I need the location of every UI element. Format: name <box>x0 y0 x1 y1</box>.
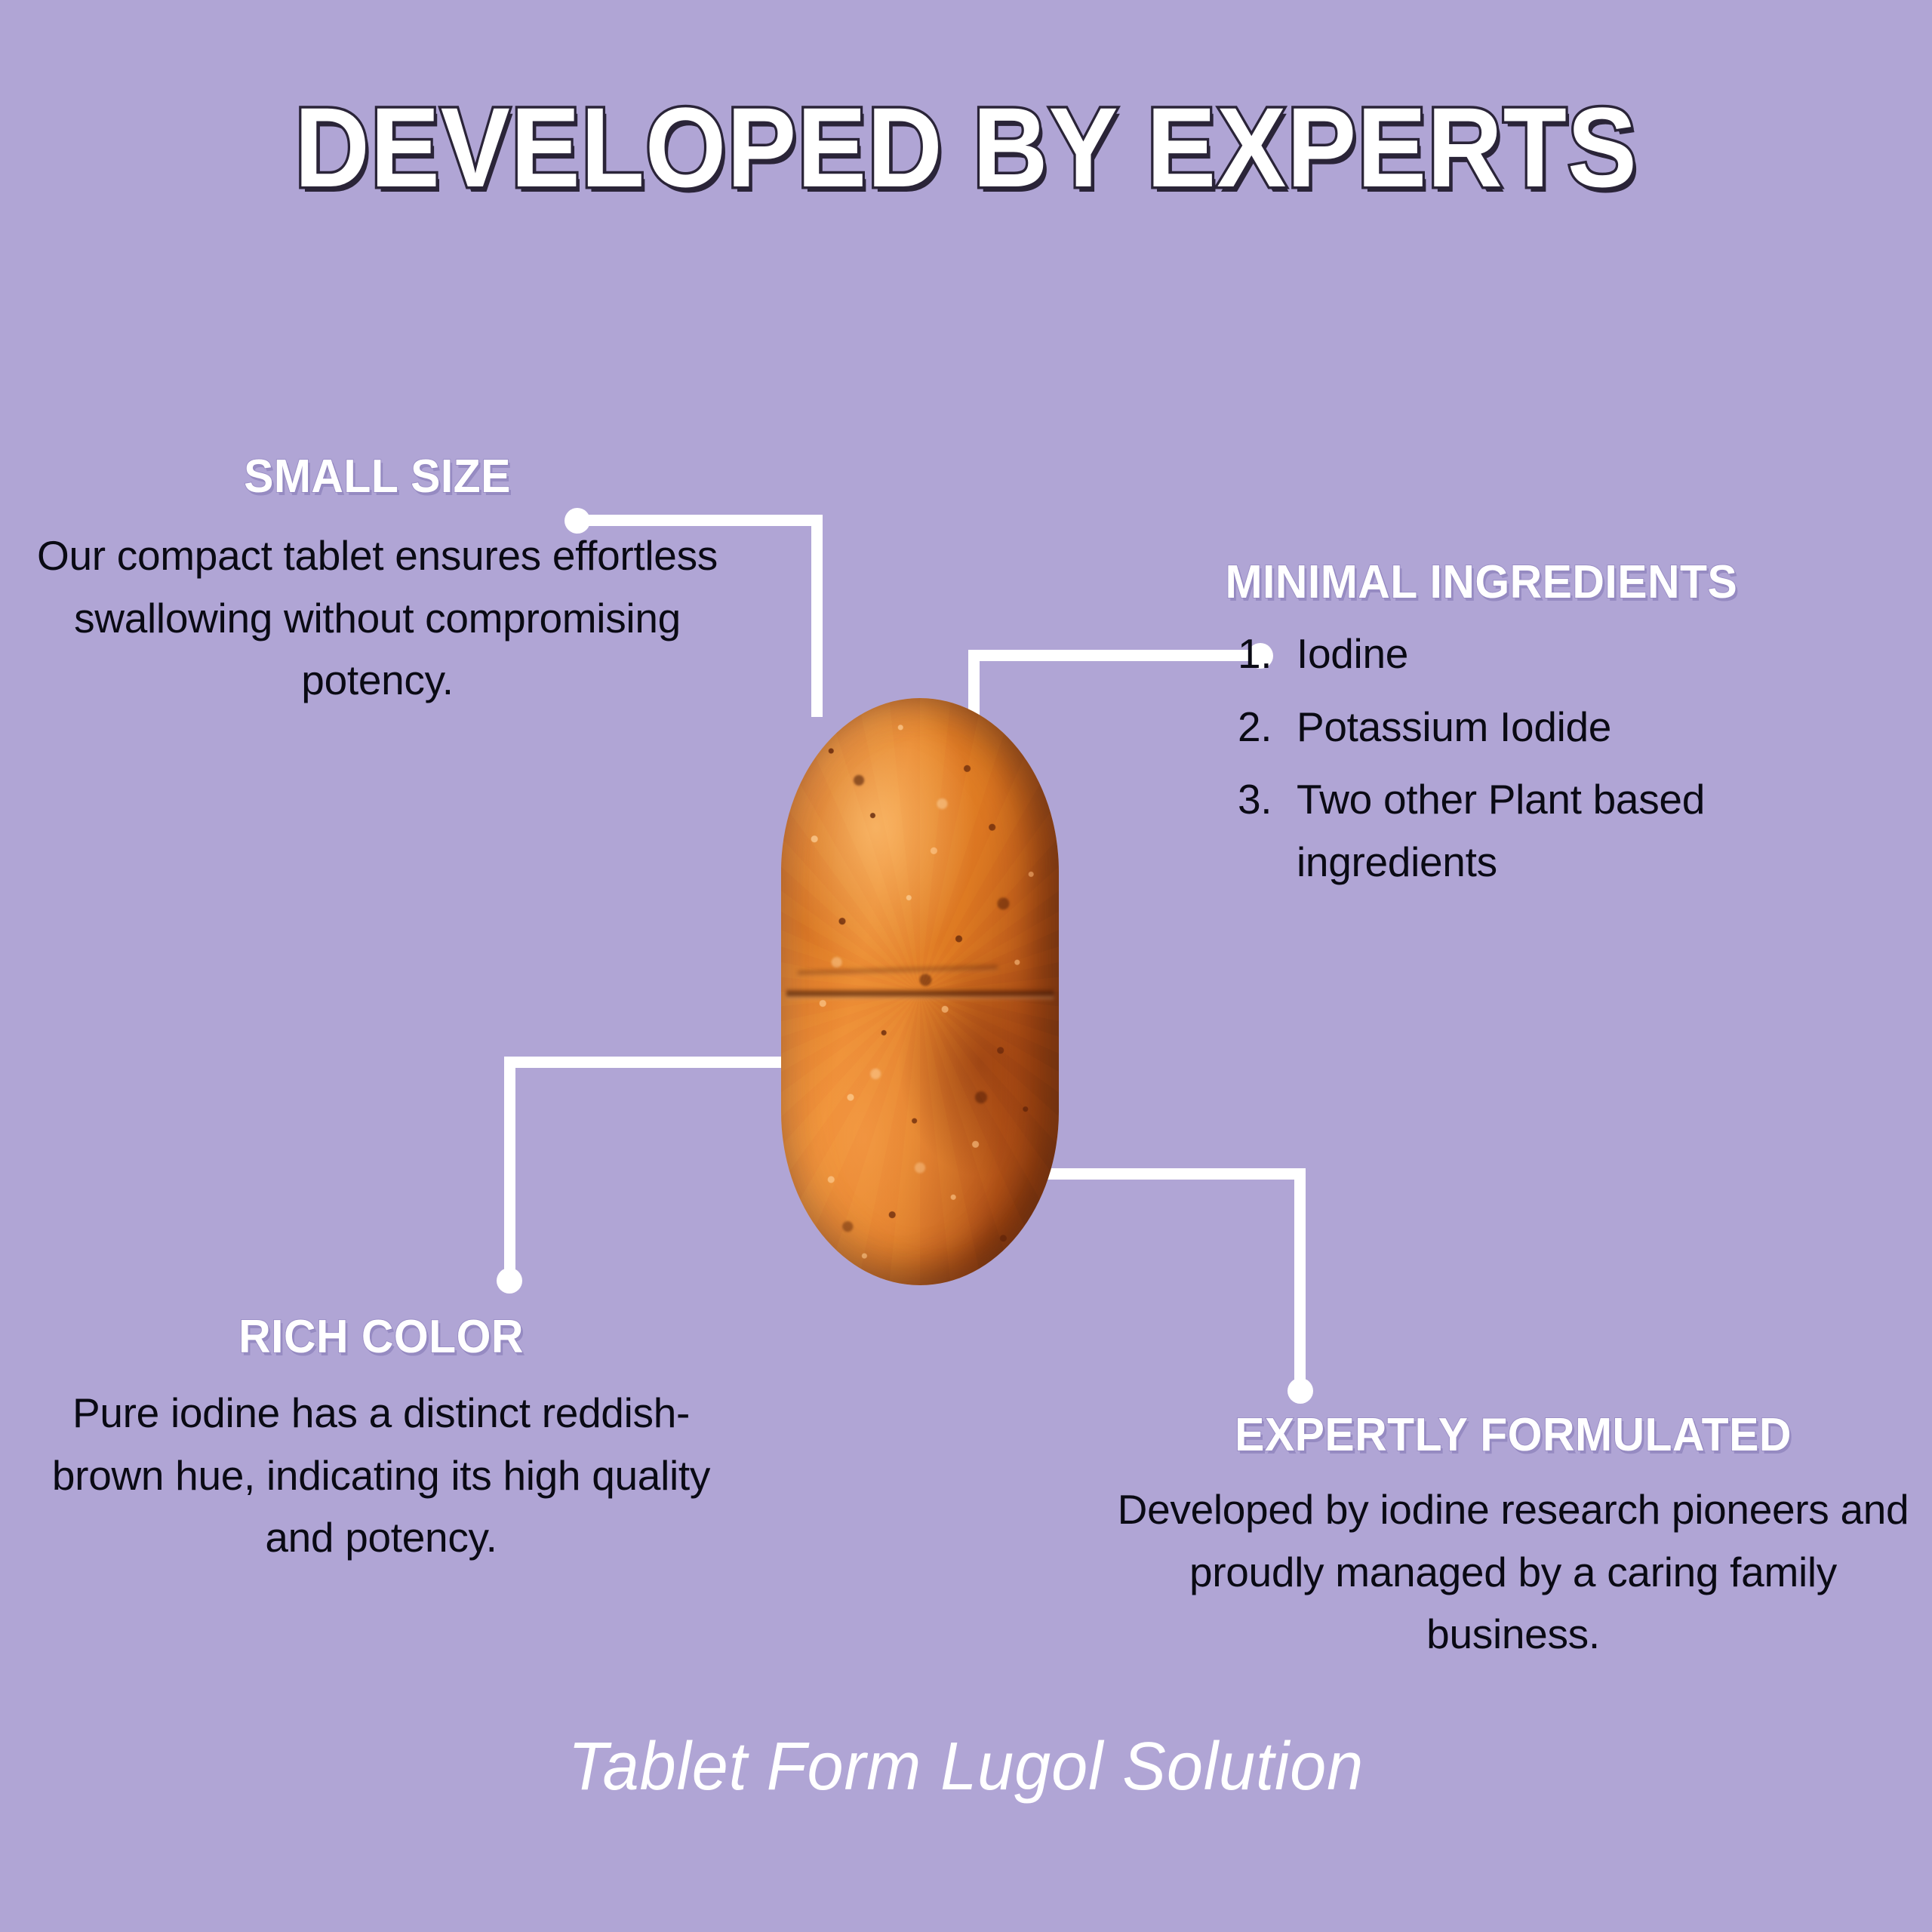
connector-line-rich-color-vertical <box>504 1057 515 1275</box>
section-small-size: SMALL SIZE Our compact tablet ensures ef… <box>30 453 724 712</box>
section-body-small-size: Our compact tablet ensures effortless sw… <box>30 525 724 712</box>
section-body-expertly-formulated: Developed by iodine research pioneers an… <box>1117 1478 1909 1666</box>
section-heading-small-size: SMALL SIZE <box>48 453 707 500</box>
section-rich-color: RICH COLOR Pure iodine has a distinct re… <box>23 1313 740 1569</box>
list-item: Two other Plant based ingredients <box>1207 768 1870 893</box>
connector-line-rich-color-horizontal <box>504 1057 814 1068</box>
iodine-tablet-image <box>781 698 1059 1285</box>
list-item: Potassium Iodide <box>1207 696 1870 758</box>
footer-caption: Tablet Form Lugol Solution <box>38 1728 1894 1806</box>
infographic-canvas: DEVELOPED BY EXPERTS SMALL SIZE Our comp… <box>0 0 1932 1932</box>
ingredient-list: Iodine Potassium Iodide Two other Plant … <box>1207 623 1917 893</box>
connector-dot-expertly-formulated <box>1287 1378 1313 1404</box>
list-item: Iodine <box>1207 623 1870 685</box>
connector-line-expertly-formulated-horizontal <box>1034 1168 1306 1180</box>
section-heading-minimal-ingredients: MINIMAL INGREDIENTS <box>1226 558 1900 606</box>
tablet-body <box>781 698 1059 1285</box>
page-title: DEVELOPED BY EXPERTS <box>77 91 1854 204</box>
section-heading-expertly-formulated: EXPERTLY FORMULATED <box>1137 1411 1890 1459</box>
section-heading-rich-color: RICH COLOR <box>41 1313 722 1361</box>
connector-line-expertly-formulated-vertical <box>1294 1168 1306 1387</box>
section-minimal-ingredients: MINIMAL INGREDIENTS Iodine Potassium Iod… <box>1207 558 1917 903</box>
connector-line-small-size-vertical <box>811 515 823 717</box>
section-expertly-formulated: EXPERTLY FORMULATED Developed by iodine … <box>1117 1411 1909 1666</box>
connector-dot-rich-color <box>497 1268 522 1294</box>
section-body-rich-color: Pure iodine has a distinct reddish-brown… <box>23 1382 740 1569</box>
tablet-score-line <box>786 989 1053 999</box>
